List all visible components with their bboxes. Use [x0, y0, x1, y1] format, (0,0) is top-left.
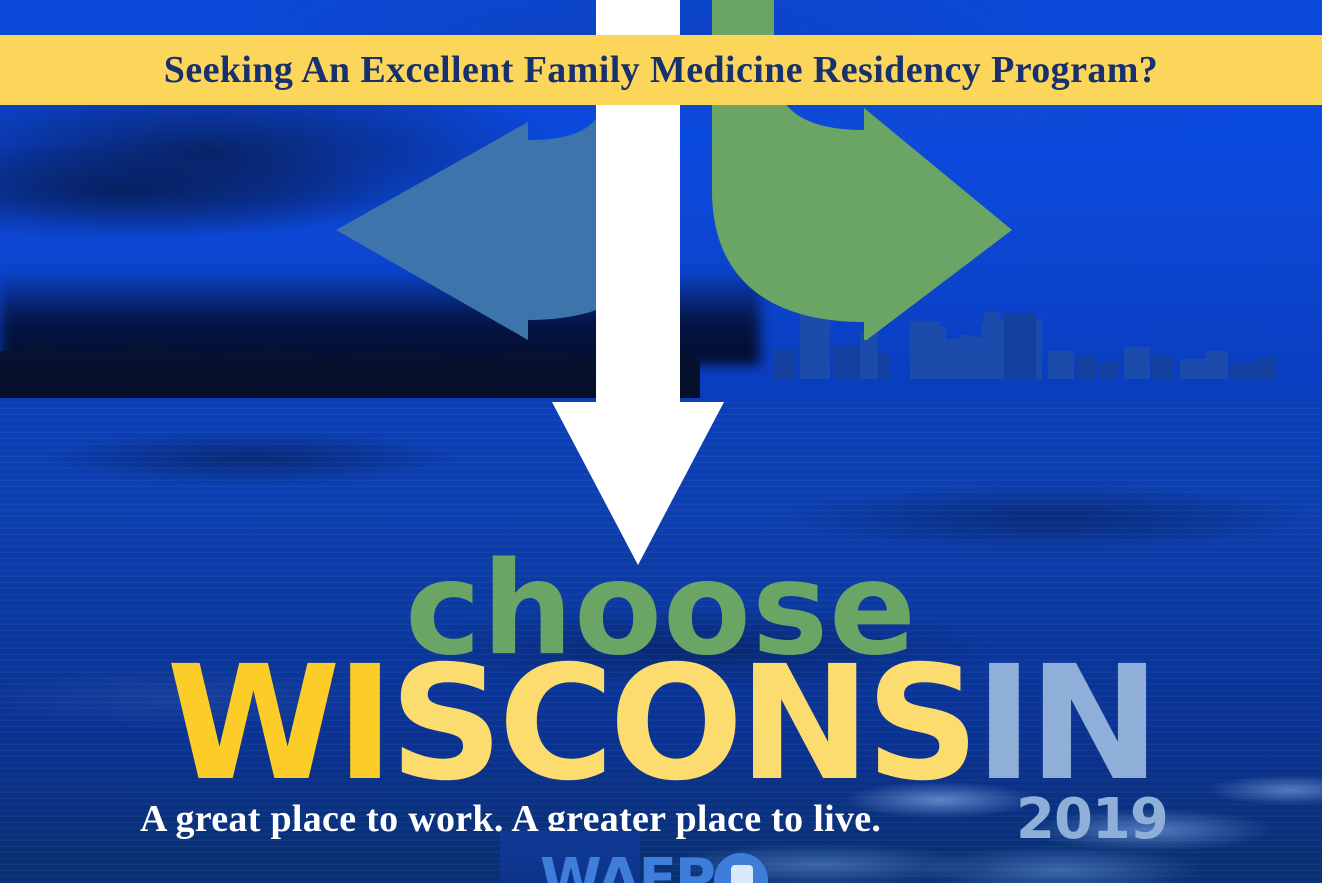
- wafp-logo-text: WAFP: [540, 852, 714, 883]
- poster: Seeking An Excellent Family Medicine Res…: [0, 0, 1322, 883]
- wordmark-segment-scons: SCONS: [389, 632, 974, 816]
- wisconsin-wordmark: WISCONSIN: [0, 645, 1322, 803]
- wordmark-segment-wi: WI: [166, 632, 389, 816]
- flame-circle-icon: [714, 853, 768, 883]
- year-label: 2019: [1016, 792, 1168, 848]
- wafp-logo: WAFP: [540, 852, 768, 883]
- banner-headline: Seeking An Excellent Family Medicine Res…: [164, 48, 1158, 92]
- banner: Seeking An Excellent Family Medicine Res…: [0, 35, 1322, 105]
